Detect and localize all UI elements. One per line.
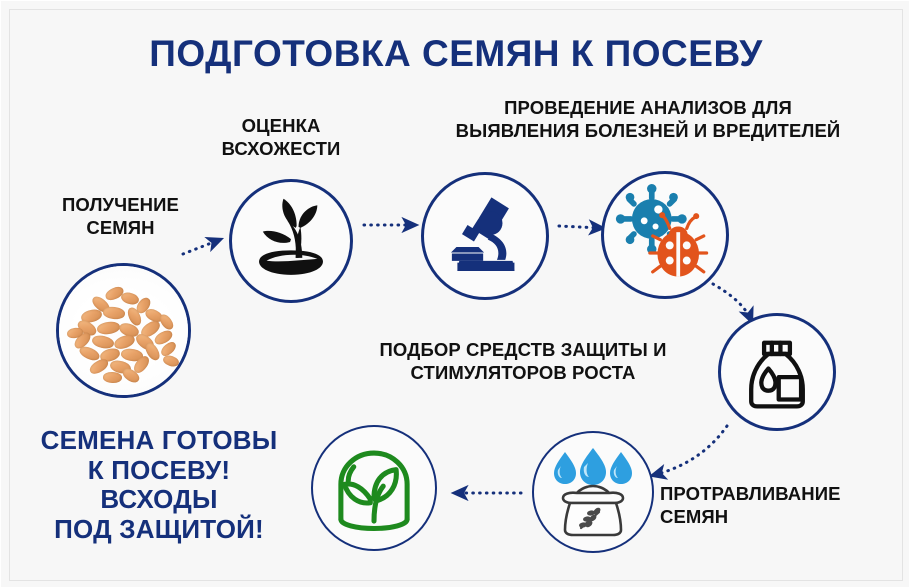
step-2-label-line1: ОЦЕНКА bbox=[186, 114, 376, 137]
sprouting-seed-icon bbox=[244, 194, 338, 288]
conclusion-text: СЕМЕНА ГОТОВЫ К ПОСЕВУ! ВСХОДЫ ПОД ЗАЩИТ… bbox=[23, 426, 295, 545]
step-2-label: ОЦЕНКА ВСХОЖЕСТИ bbox=[186, 114, 376, 160]
step-1-icon-circle bbox=[56, 263, 191, 398]
chemical-bottle-icon bbox=[734, 329, 820, 415]
plant-under-dome-icon bbox=[328, 442, 420, 534]
step-4-label: ПОДБОР СРЕДСТВ ЗАЩИТЫ И СТИМУЛЯТОРОВ РОС… bbox=[337, 338, 709, 384]
infographic-canvas: ПОДГОТОВКА СЕМЯН К ПОСЕВУ ПОЛУЧЕНИЕ СЕМЯ… bbox=[0, 0, 910, 588]
virus-and-beetle-icon bbox=[613, 183, 717, 287]
step-6-icon-circle bbox=[311, 425, 437, 551]
step-5-icon-circle bbox=[532, 431, 654, 553]
step-5-label: ПРОТРАВЛИВАНИЕ СЕМЯН bbox=[660, 482, 890, 528]
step-3-label: ПРОВЕДЕНИЕ АНАЛИЗОВ ДЛЯ ВЫЯВЛЕНИЯ БОЛЕЗН… bbox=[409, 96, 887, 142]
step-5-label-line2: СЕМЯН bbox=[660, 505, 890, 528]
step-5-label-line1: ПРОТРАВЛИВАНИЕ bbox=[660, 482, 890, 505]
step-1-label-line2: СЕМЯН bbox=[13, 216, 228, 239]
conclusion-line-3: ВСХОДЫ bbox=[23, 485, 295, 515]
water-droplets bbox=[554, 448, 632, 485]
step-2-label-line2: ВСХОЖЕСТИ bbox=[186, 137, 376, 160]
conclusion-line-4: ПОД ЗАЩИТОЙ! bbox=[23, 515, 295, 545]
page-title: ПОДГОТОВКА СЕМЯН К ПОСЕВУ bbox=[1, 35, 910, 74]
step-3-microscope-circle bbox=[421, 172, 549, 300]
step-4-label-line1: ПОДБОР СРЕДСТВ ЗАЩИТЫ И bbox=[337, 338, 709, 361]
seed-sack bbox=[563, 486, 623, 535]
step-2-icon-circle bbox=[229, 179, 353, 303]
seed-sack-with-droplets-icon bbox=[543, 442, 643, 542]
step-1-label: ПОЛУЧЕНИЕ СЕМЯН bbox=[13, 193, 228, 239]
step-3-label-line2: ВЫЯВЛЕНИЯ БОЛЕЗНЕЙ И ВРЕДИТЕЛЕЙ bbox=[409, 119, 887, 142]
step-4-icon-circle bbox=[718, 313, 836, 431]
microscope-icon bbox=[439, 190, 531, 282]
step-4-label-line2: СТИМУЛЯТОРОВ РОСТА bbox=[337, 361, 709, 384]
step-3-pests-circle bbox=[601, 171, 729, 299]
conclusion-line-1: СЕМЕНА ГОТОВЫ bbox=[23, 426, 295, 456]
step-3-label-line1: ПРОВЕДЕНИЕ АНАЛИЗОВ ДЛЯ bbox=[409, 96, 887, 119]
conclusion-line-2: К ПОСЕВУ! bbox=[23, 456, 295, 486]
wheat-seeds-photo-icon bbox=[59, 266, 188, 395]
step-1-label-line1: ПОЛУЧЕНИЕ bbox=[13, 193, 228, 216]
